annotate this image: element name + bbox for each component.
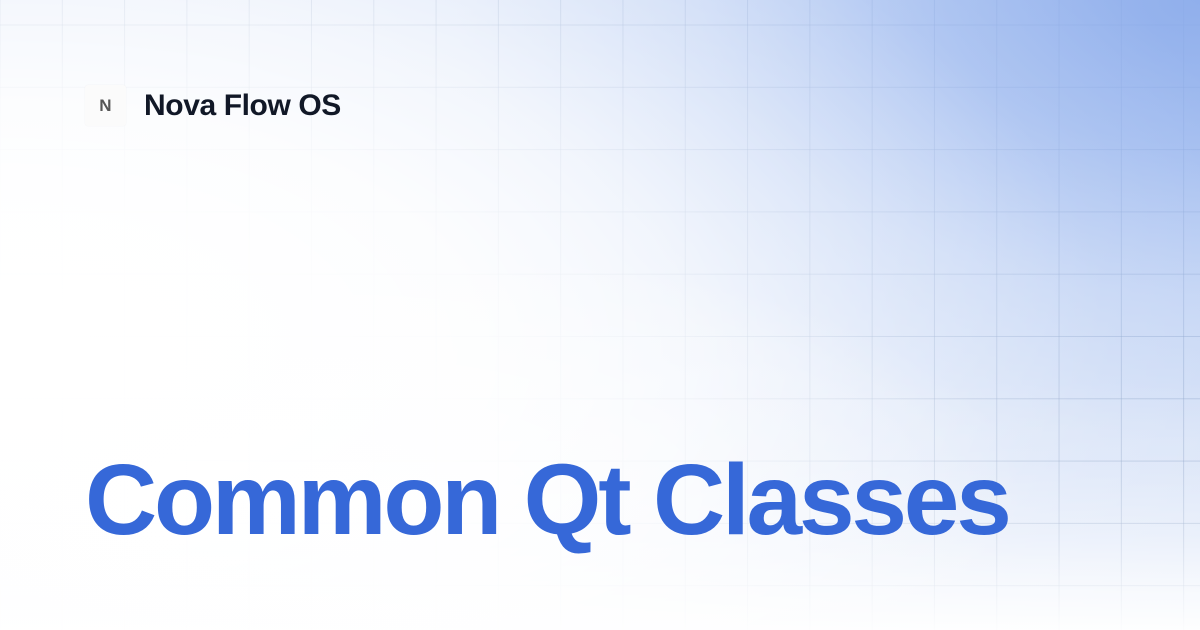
brand-name: Nova Flow OS [144, 91, 341, 121]
og-card: N Nova Flow OS Common Qt Classes [0, 0, 1200, 630]
nova-monogram-icon: N [85, 85, 126, 126]
brand-mark-letter: N [99, 97, 111, 114]
page-title: Common Qt Classes [85, 448, 1009, 552]
brand-lockup: N Nova Flow OS [85, 85, 341, 126]
